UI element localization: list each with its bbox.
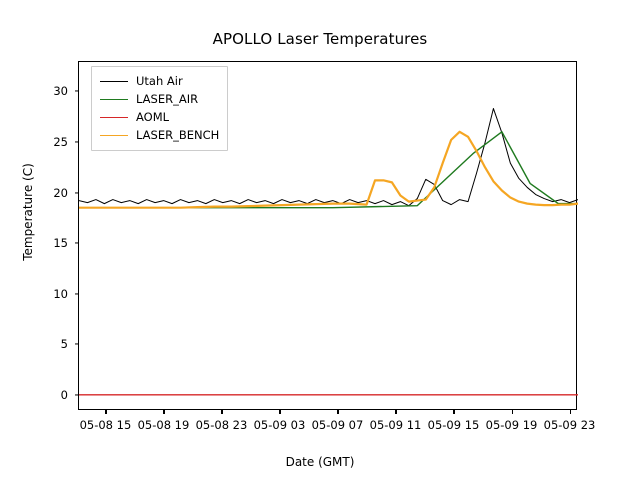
figure-canvas: APOLLO Laser Temperatures Temperature (C… <box>0 0 640 480</box>
y-tick-label: 15 <box>8 236 68 250</box>
legend-color-swatch <box>100 135 128 136</box>
chart-title: APOLLO Laser Temperatures <box>0 30 640 48</box>
x-tick-label: 05-08 19 <box>138 418 190 432</box>
y-axis-label: Temperature (C) <box>21 72 35 352</box>
legend-item[interactable]: AOML <box>100 108 219 126</box>
legend-color-swatch <box>100 81 128 82</box>
x-tick-label: 05-09 07 <box>312 418 364 432</box>
legend-item[interactable]: LASER_AIR <box>100 90 219 108</box>
x-tick-label: 05-09 19 <box>486 418 538 432</box>
y-tick-label: 10 <box>8 287 68 301</box>
legend-color-swatch <box>100 99 128 100</box>
legend-label: AOML <box>136 110 169 124</box>
y-tick-label: 25 <box>8 135 68 149</box>
x-tick-label: 05-09 03 <box>254 418 306 432</box>
legend-label: LASER_BENCH <box>136 128 219 142</box>
legend-color-swatch <box>100 117 128 118</box>
legend-item[interactable]: Utah Air <box>100 72 219 90</box>
y-tick-label: 5 <box>8 337 68 351</box>
x-tick-label: 05-08 15 <box>80 418 132 432</box>
y-tick-label: 20 <box>8 186 68 200</box>
legend-label: LASER_AIR <box>136 92 198 106</box>
x-tick-label: 05-08 23 <box>196 418 248 432</box>
legend-label: Utah Air <box>136 74 183 88</box>
x-tick-label: 05-09 15 <box>428 418 480 432</box>
y-tick-label: 0 <box>8 388 68 402</box>
x-tick-label: 05-09 11 <box>370 418 422 432</box>
legend-box: Utah AirLASER_AIRAOMLLASER_BENCH <box>91 66 228 151</box>
x-tick-label: 05-09 23 <box>544 418 596 432</box>
x-axis-label: Date (GMT) <box>0 455 640 469</box>
y-tick-label: 30 <box>8 84 68 98</box>
legend-item[interactable]: LASER_BENCH <box>100 126 219 144</box>
